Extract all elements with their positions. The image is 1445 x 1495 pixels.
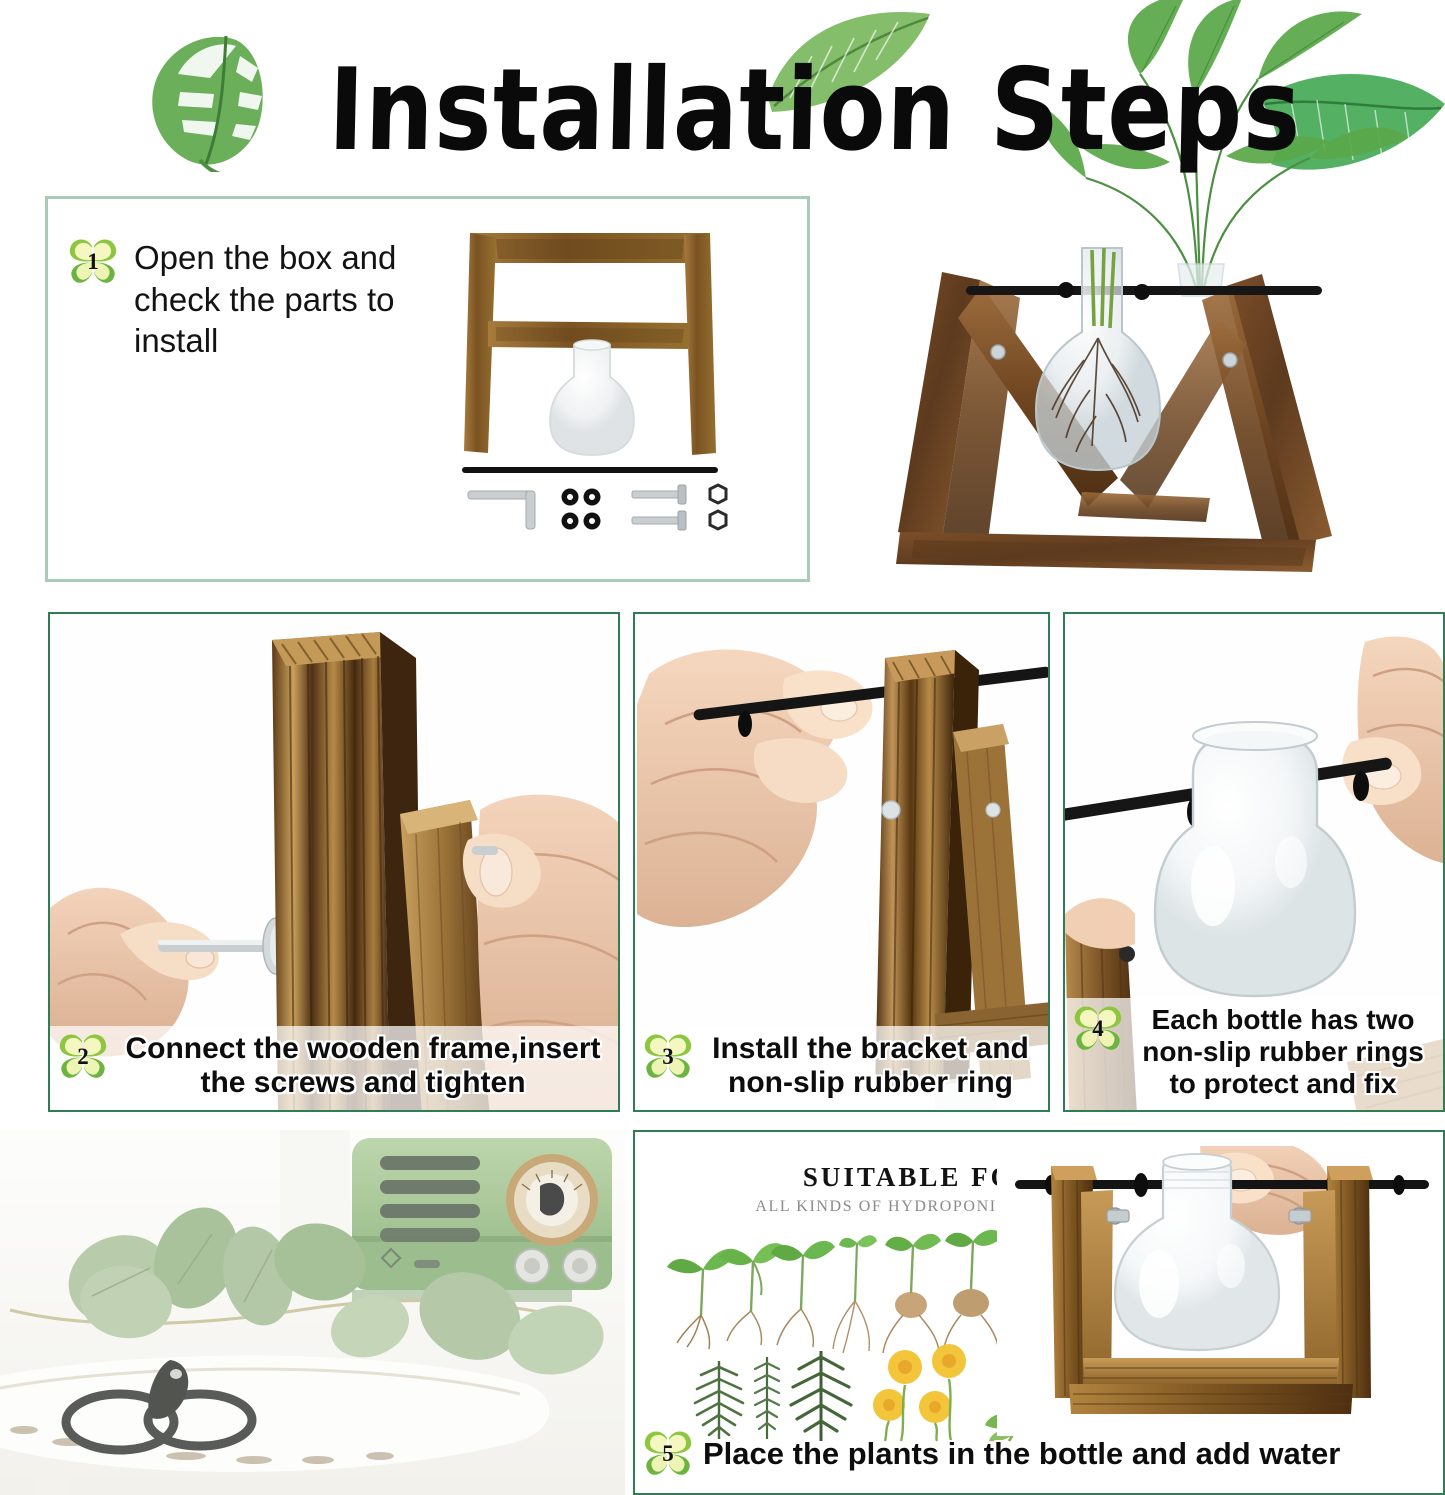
step-2-caption: 2 Connect the wooden frame,insert the sc… — [50, 1026, 618, 1110]
step-4-number: 4 — [1071, 1004, 1125, 1054]
lifestyle-photo — [0, 1130, 625, 1495]
clover-badge-4: 4 — [1071, 1004, 1125, 1054]
clover-badge-5: 5 — [641, 1429, 695, 1479]
step-1-header-row: 1 Open the box and check the parts to in… — [66, 237, 434, 362]
clover-badge-2: 2 — [56, 1032, 110, 1082]
step-5-photo — [997, 1146, 1443, 1436]
page-title: Installation Steps — [327, 44, 1303, 176]
step-3-panel: 3 Install the bracket and non-slip rubbe… — [633, 612, 1050, 1112]
step-4-text: Each bottle has two non-slip rubber ring… — [1129, 1004, 1437, 1100]
step-2-text: Connect the wooden frame,insert the scre… — [114, 1032, 612, 1100]
step-5-number: 5 — [641, 1429, 695, 1479]
step-4-panel: 4 Each bottle has two non-slip rubber ri… — [1063, 612, 1445, 1112]
rooted-plant-1 — [667, 1249, 739, 1349]
monstera-leaf-icon — [140, 22, 330, 172]
rooted-bulb-2 — [943, 1230, 1003, 1353]
step-1-text: Open the box and check the parts to inst… — [134, 237, 434, 362]
step-1-number: 1 — [66, 237, 120, 287]
screws — [632, 485, 686, 530]
step-5-text: Place the plants in the bottle and add w… — [699, 1436, 1437, 1471]
rooted-plant-3 — [771, 1241, 835, 1347]
allen-wrench — [468, 491, 535, 529]
step-3-text: Install the bracket and non-slip rubber … — [699, 1032, 1042, 1100]
step-1-panel: 1 Open the box and check the parts to in… — [45, 196, 810, 582]
step-3-number: 3 — [641, 1032, 695, 1082]
step-5-panel: SUITABLE FOR ALL KINDS OF HYDROPONIC PLA… — [633, 1130, 1445, 1495]
step-2-number: 2 — [56, 1032, 110, 1082]
rubber-rings — [562, 489, 601, 530]
header: Installation Steps — [0, 0, 1445, 196]
clover-badge-3: 3 — [641, 1032, 695, 1082]
rooted-sprout — [833, 1235, 877, 1353]
hex-nuts — [710, 485, 726, 529]
rubber-ring-right — [1353, 771, 1369, 801]
parts-diagram — [448, 215, 798, 565]
glass-bulb-vase — [550, 345, 634, 455]
step-4-caption: 4 Each bottle has two non-slip rubber ri… — [1065, 998, 1443, 1110]
metal-rod — [462, 467, 718, 473]
rooted-bulb-1 — [883, 1234, 941, 1353]
hero-product-image — [870, 240, 1360, 590]
step-2-panel: 2 Connect the wooden frame,insert the sc… — [48, 612, 620, 1112]
step-5-caption: 5 Place the plants in the bottle and add… — [635, 1423, 1443, 1493]
clover-badge-1: 1 — [66, 237, 120, 287]
rooted-plant-2 — [719, 1243, 785, 1345]
step-3-caption: 3 Install the bracket and non-slip rubbe… — [635, 1026, 1048, 1110]
rubber-ring — [738, 711, 752, 737]
